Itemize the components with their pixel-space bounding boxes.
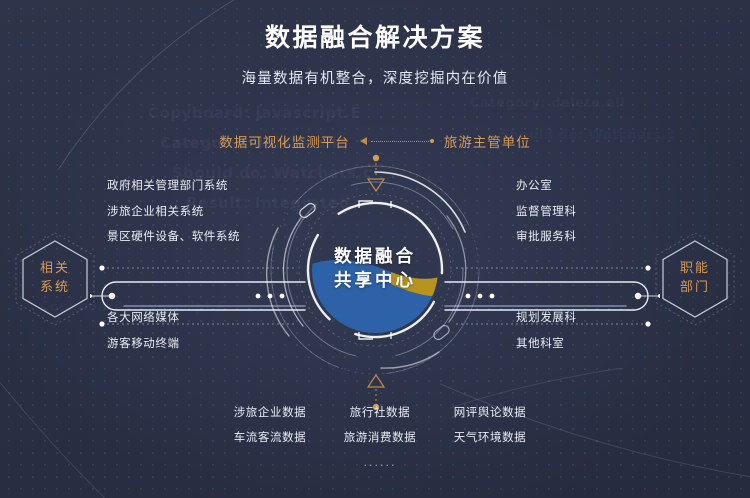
- right-top-department-list: 办公室 监督管理科 审批服务科: [516, 180, 577, 257]
- hex-label-line2: 部门: [680, 279, 710, 298]
- data-fusion-hub: 数据融合 共享中心: [241, 160, 509, 380]
- data-cell: 网评舆论数据: [445, 407, 535, 419]
- left-top-source-list: 政府相关管理部门系统 涉旅企业相关系统 景区硬件设备、软件系统: [107, 180, 240, 257]
- data-cell: 车流客流数据: [225, 432, 315, 444]
- data-cell: 旅行社数据: [335, 407, 425, 419]
- list-item: 办公室: [516, 180, 577, 192]
- list-item: 监督管理科: [516, 206, 577, 218]
- hex-label-line1: 相关: [40, 260, 70, 279]
- list-item: 涉旅企业相关系统: [107, 206, 240, 218]
- tourism-authority-label: 旅游主管单位: [444, 131, 531, 151]
- right-bottom-department-list: 规划发展科 其他科室: [516, 312, 577, 363]
- bottom-data-grid: 涉旅企业数据 旅行社数据 网评舆论数据 车流客流数据 旅游消费数据 天气环境数据…: [225, 407, 535, 469]
- related-systems-node[interactable]: 相关 系统: [12, 230, 98, 328]
- list-item: 景区硬件设备、软件系统: [107, 231, 240, 243]
- data-row: 车流客流数据 旅游消费数据 天气环境数据: [225, 432, 535, 444]
- data-row: 涉旅企业数据 旅行社数据 网评舆论数据: [225, 407, 535, 419]
- list-item: 游客移动终端: [107, 338, 180, 350]
- list-item: 规划发展科: [516, 312, 577, 324]
- ghost-text-line: Copyboard: javascript.E: [148, 104, 361, 122]
- left-bottom-source-list: 各大网络媒体 游客移动终端: [107, 312, 180, 363]
- page-title: 数据融合解决方案: [0, 24, 750, 53]
- hex-label-line1: 职能: [680, 260, 710, 279]
- hub-rings: [241, 160, 509, 380]
- page-subtitle: 海量数据有机整合，深度挖掘内在价值: [0, 67, 750, 88]
- list-item: 审批服务科: [516, 231, 577, 243]
- data-cell: 涉旅企业数据: [225, 407, 315, 419]
- hex-label-line2: 系统: [40, 279, 70, 298]
- functional-departments-node[interactable]: 职能 部门: [652, 230, 738, 328]
- list-item: 其他科室: [516, 338, 577, 350]
- related-systems-label: 相关 系统: [12, 230, 98, 328]
- flow-arrow-left-icon: [360, 135, 434, 147]
- visualization-platform-label: 数据可视化监测平台: [219, 131, 350, 151]
- infographic-canvas: Copyboard: javascript.E Category: delete…: [0, 0, 750, 498]
- ghost-text-line: Category: delete.all: [470, 96, 625, 111]
- functional-departments-label: 职能 部门: [652, 230, 738, 328]
- data-cell: 天气环境数据: [445, 432, 535, 444]
- data-cell: 旅游消费数据: [335, 432, 425, 444]
- list-item: 各大网络媒体: [107, 312, 180, 324]
- list-item: 政府相关管理部门系统: [107, 180, 240, 192]
- header: 数据融合解决方案 海量数据有机整合，深度挖掘内在价值: [0, 24, 750, 88]
- top-label-row: 数据可视化监测平台 旅游主管单位: [0, 131, 750, 151]
- data-ellipsis: ......: [225, 456, 535, 469]
